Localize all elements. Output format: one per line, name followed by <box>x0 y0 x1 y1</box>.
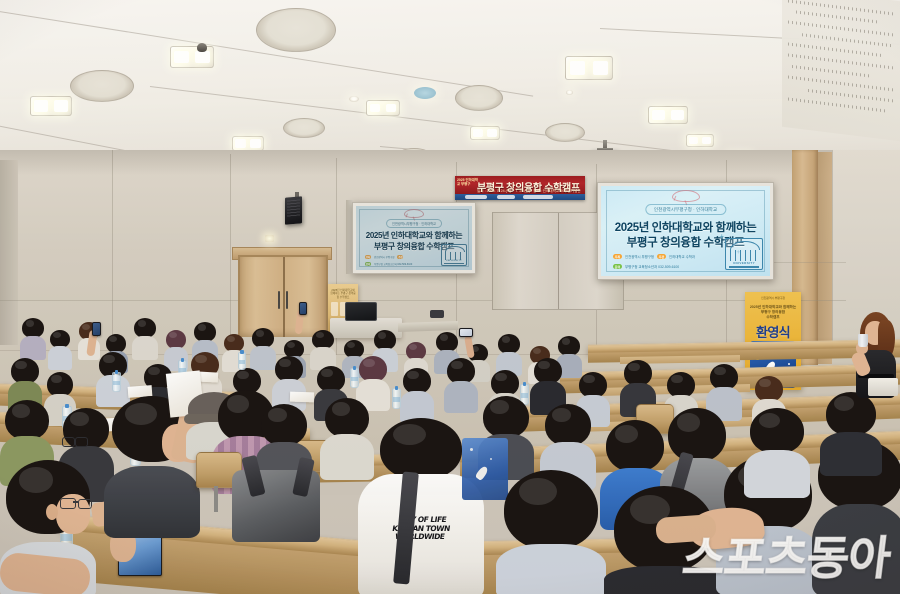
phone-raised-2[interactable] <box>459 328 473 337</box>
person-front-right-1 <box>496 470 606 594</box>
welcome-banner-subtitle: 2025년 인하대학교와 함께하는 부평구 창의융합 수학캠프 <box>749 305 797 320</box>
university-logo-right: UNIVERSITY <box>725 238 763 270</box>
tshirt-graphic-text: WAY OF LIFE KALAAN TOWN WORLDWIDE <box>356 516 486 542</box>
presenter-cup[interactable] <box>858 334 868 347</box>
badge-contact-text: 부평구청 교육청소년과 032-509-6100 <box>625 264 679 269</box>
projection-screen-left: 인천광역시부평구청 · 인하대학교 2025년 인하대학교와 함께하는 부평구 … <box>352 202 476 274</box>
red-banner-footer <box>455 194 585 200</box>
wood-trim-strip-2 <box>818 152 832 364</box>
person-back-2 <box>48 330 72 368</box>
slide-pill-right: 인천광역시부평구청 · 인하대학교 <box>645 204 726 215</box>
person-mid-10 <box>400 368 434 422</box>
watermark-logo: 스포츠동아 <box>668 524 894 586</box>
welcome-banner-main-text: 환영식 <box>745 322 801 341</box>
slide-badge-row-2-right: 문의 부평구청 교육청소년과 032-509-6100 <box>613 264 679 269</box>
person-back-17 <box>496 334 522 374</box>
tshirt-line-3: WORLDWIDE <box>356 533 483 542</box>
water-bottle-4[interactable] <box>350 368 359 388</box>
slide-badge-row-left-2: 문의 부평구청 교육청소년과 032-509-6100 <box>365 262 412 266</box>
phone-raised-3[interactable] <box>299 302 307 315</box>
phone-raised-1[interactable] <box>92 322 101 336</box>
slide-content-left: 인천광역시부평구청 · 인하대학교 2025년 인하대학교와 함께하는 부평구 … <box>356 206 472 270</box>
person-back-5 <box>132 318 158 358</box>
badge-contact: 문의 <box>613 264 622 269</box>
badge-contact-left: 문의 <box>365 262 371 266</box>
badge-organizer-left: 주관 <box>397 255 403 259</box>
monitor-screen <box>345 302 377 321</box>
water-bottle-3[interactable] <box>238 352 246 370</box>
wall-downlight <box>265 235 274 242</box>
slide-plus-mark-a: + <box>719 232 724 241</box>
badge-host-left: 주최 <box>365 255 371 259</box>
badge-organizer-text: 인하대학교 수학과 <box>669 254 695 259</box>
badge-host: 주최 <box>613 254 622 259</box>
acoustic-ceiling-panel <box>782 0 900 141</box>
lecture-hall-doors[interactable] <box>238 255 328 337</box>
slide-title-line1-right: 2025년 인하대학교와 함께하는 <box>601 219 770 235</box>
badge-host-text-left: 인천광역시 부평구청 <box>374 255 394 259</box>
side-banner-caption: 2025년 인하대학교와 함께하는 부평구 창의융합 수학캠프 <box>330 289 356 299</box>
red-event-banner: 2025 인하대학교 부평구 부평구 창의융합 수학캠프 일시 : 2025. … <box>455 176 585 200</box>
slide-content-right: 인천광역시부평구청 · 인하대학교 2025년 인하대학교와 함께하는 부평구 … <box>601 186 770 276</box>
glasses-icon-2 <box>62 437 88 445</box>
person-back-11 <box>310 330 336 368</box>
ceiling-speaker-icon <box>197 43 207 52</box>
university-logo-left: UNIVERSITY <box>441 244 467 266</box>
wall-speaker <box>285 196 302 224</box>
slide-pill-left: 인천광역시부평구청 · 인하대학교 <box>386 219 442 228</box>
water-bottle-5[interactable] <box>392 388 401 409</box>
badge-organizer: 주관 <box>657 254 666 259</box>
presenter-table-items <box>868 378 898 396</box>
university-logo-word: UNIVERSITY <box>726 261 762 265</box>
person-mid-11 <box>444 358 478 412</box>
person-back-1 <box>20 318 46 358</box>
welcome-banner-eyebrow: 인천광역시 부평구청 <box>745 296 801 300</box>
slide-badge-row-left: 주최 인천광역시 부평구청 주관 <box>365 255 403 259</box>
stage-object <box>430 310 444 318</box>
photo-scene: 2025 인하대학교 부평구 부평구 창의융합 수학캠프 일시 : 2025. … <box>0 0 900 594</box>
person-front-right-5 <box>744 408 810 494</box>
badge-contact-text-left: 부평구청 교육청소년과 032-509-6100 <box>374 262 412 266</box>
water-bottle-1[interactable] <box>112 372 121 392</box>
wall-seam-h <box>0 300 846 301</box>
slide-badge-row-1-right: 주최 인천광역시 부평구청 주관 인하대학교 수학과 <box>613 254 695 259</box>
person-front-right-6 <box>820 392 882 472</box>
red-banner-side-text: 2025 인하대학교 부평구 <box>457 178 479 186</box>
wall-edge-left <box>0 160 18 345</box>
projection-screen-right: 인천광역시부평구청 · 인하대학교 2025년 인하대학교와 함께하는 부평구 … <box>597 182 774 280</box>
slide-title-line1-left: 2025년 인하대학교와 함께하는 <box>356 230 472 241</box>
paper-handout-4[interactable] <box>290 392 314 403</box>
chair-leg-1 <box>214 486 218 512</box>
glasses-icon <box>60 498 92 507</box>
badge-host-text: 인천광역시 부평구청 <box>625 254 654 259</box>
